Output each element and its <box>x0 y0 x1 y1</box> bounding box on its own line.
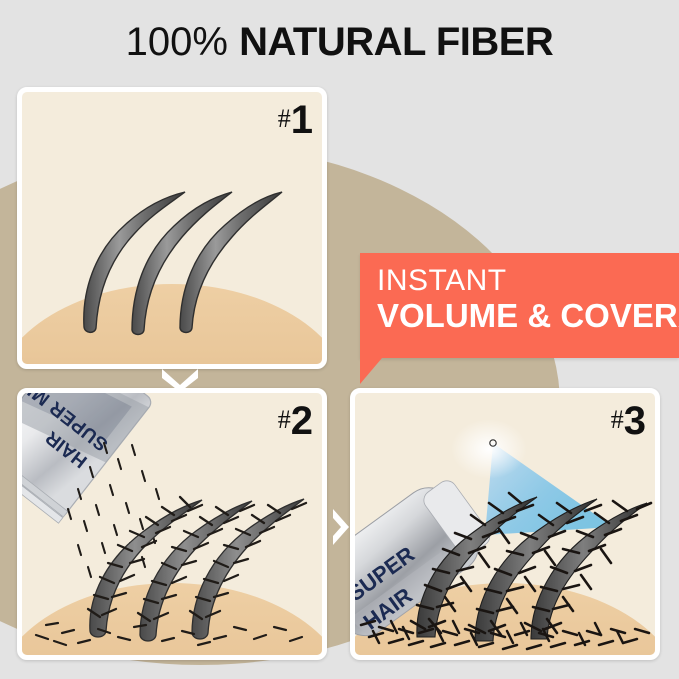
panel-number-digit: 2 <box>291 399 312 443</box>
banner-line-2: VOLUME & COVERAGE <box>377 297 679 334</box>
step-panel-1: #1 <box>17 87 327 369</box>
step-panel-2: SUPER MILLION HAIR <box>17 388 327 660</box>
hash-symbol: # <box>611 405 624 434</box>
infographic-canvas: 100% NATURAL FIBER <box>0 0 679 679</box>
panel-number-digit: 3 <box>624 399 645 443</box>
hash-symbol: # <box>278 104 291 133</box>
step-panel-3: SUPER HAIR <box>350 388 660 660</box>
panel-number-3: #3 <box>611 399 645 444</box>
hash-symbol: # <box>278 405 291 434</box>
scalp-fibers <box>36 623 302 645</box>
panel-number-2: #2 <box>278 399 312 444</box>
headline-emphasis: NATURAL FIBER <box>239 20 553 64</box>
fiber-bottle: SUPER MILLION HAIR <box>22 393 154 523</box>
chevron-down-icon <box>158 366 202 392</box>
page-title: 100% NATURAL FIBER <box>0 20 679 64</box>
promo-banner: INSTANT VOLUME & COVERAGE <box>360 253 679 358</box>
coated-hair-strands <box>90 499 304 641</box>
panel-number-digit: 1 <box>291 98 312 142</box>
banner-pointer-tail <box>360 358 382 384</box>
chevron-right-icon <box>330 506 352 548</box>
banner-line-1: INSTANT <box>377 264 679 297</box>
panel-number-1: #1 <box>278 98 312 143</box>
headline-prefix: 100% <box>126 20 228 64</box>
